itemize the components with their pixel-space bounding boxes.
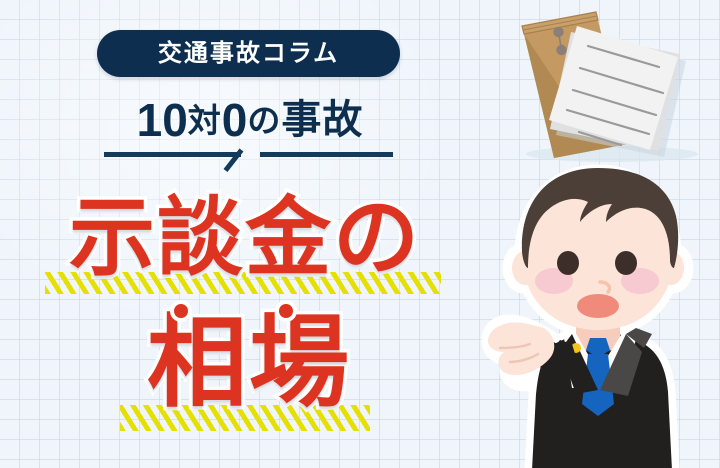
- subheading-accident: 事故: [281, 100, 363, 140]
- subheading-zero: 0: [222, 97, 248, 143]
- headline-line1-row: 示談金の: [0, 186, 480, 290]
- eye-left: [557, 251, 579, 275]
- subheading-no: の: [247, 104, 281, 137]
- envelope-illustration: [492, 4, 717, 162]
- subheading-underline: [100, 150, 400, 174]
- emphasis-dot-second: [275, 300, 297, 322]
- person-illustration: [476, 158, 720, 468]
- headline-line2-row: 相場: [0, 308, 484, 418]
- emphasis-dot-first: [170, 300, 192, 322]
- headline-line2: 相場: [147, 313, 351, 413]
- mouth: [577, 294, 619, 318]
- category-badge: 交通事故コラム: [97, 30, 400, 77]
- article-thumbnail-banner: 交通事故コラム 10 対 0 の 事故 示談金の 相場: [0, 0, 720, 468]
- underline-segment-right: [260, 152, 393, 157]
- subheading-tai: 対: [188, 104, 222, 137]
- category-badge-label: 交通事故コラム: [158, 42, 339, 66]
- headline-block: 示談金の 相場: [0, 186, 470, 446]
- subheading-ratio-number: 10: [137, 97, 188, 143]
- subheading: 10 対 0 の 事故: [100, 92, 400, 148]
- eye-right: [615, 251, 637, 275]
- underline-segment-left: [104, 152, 241, 157]
- headline-line1: 示談金の: [69, 195, 421, 281]
